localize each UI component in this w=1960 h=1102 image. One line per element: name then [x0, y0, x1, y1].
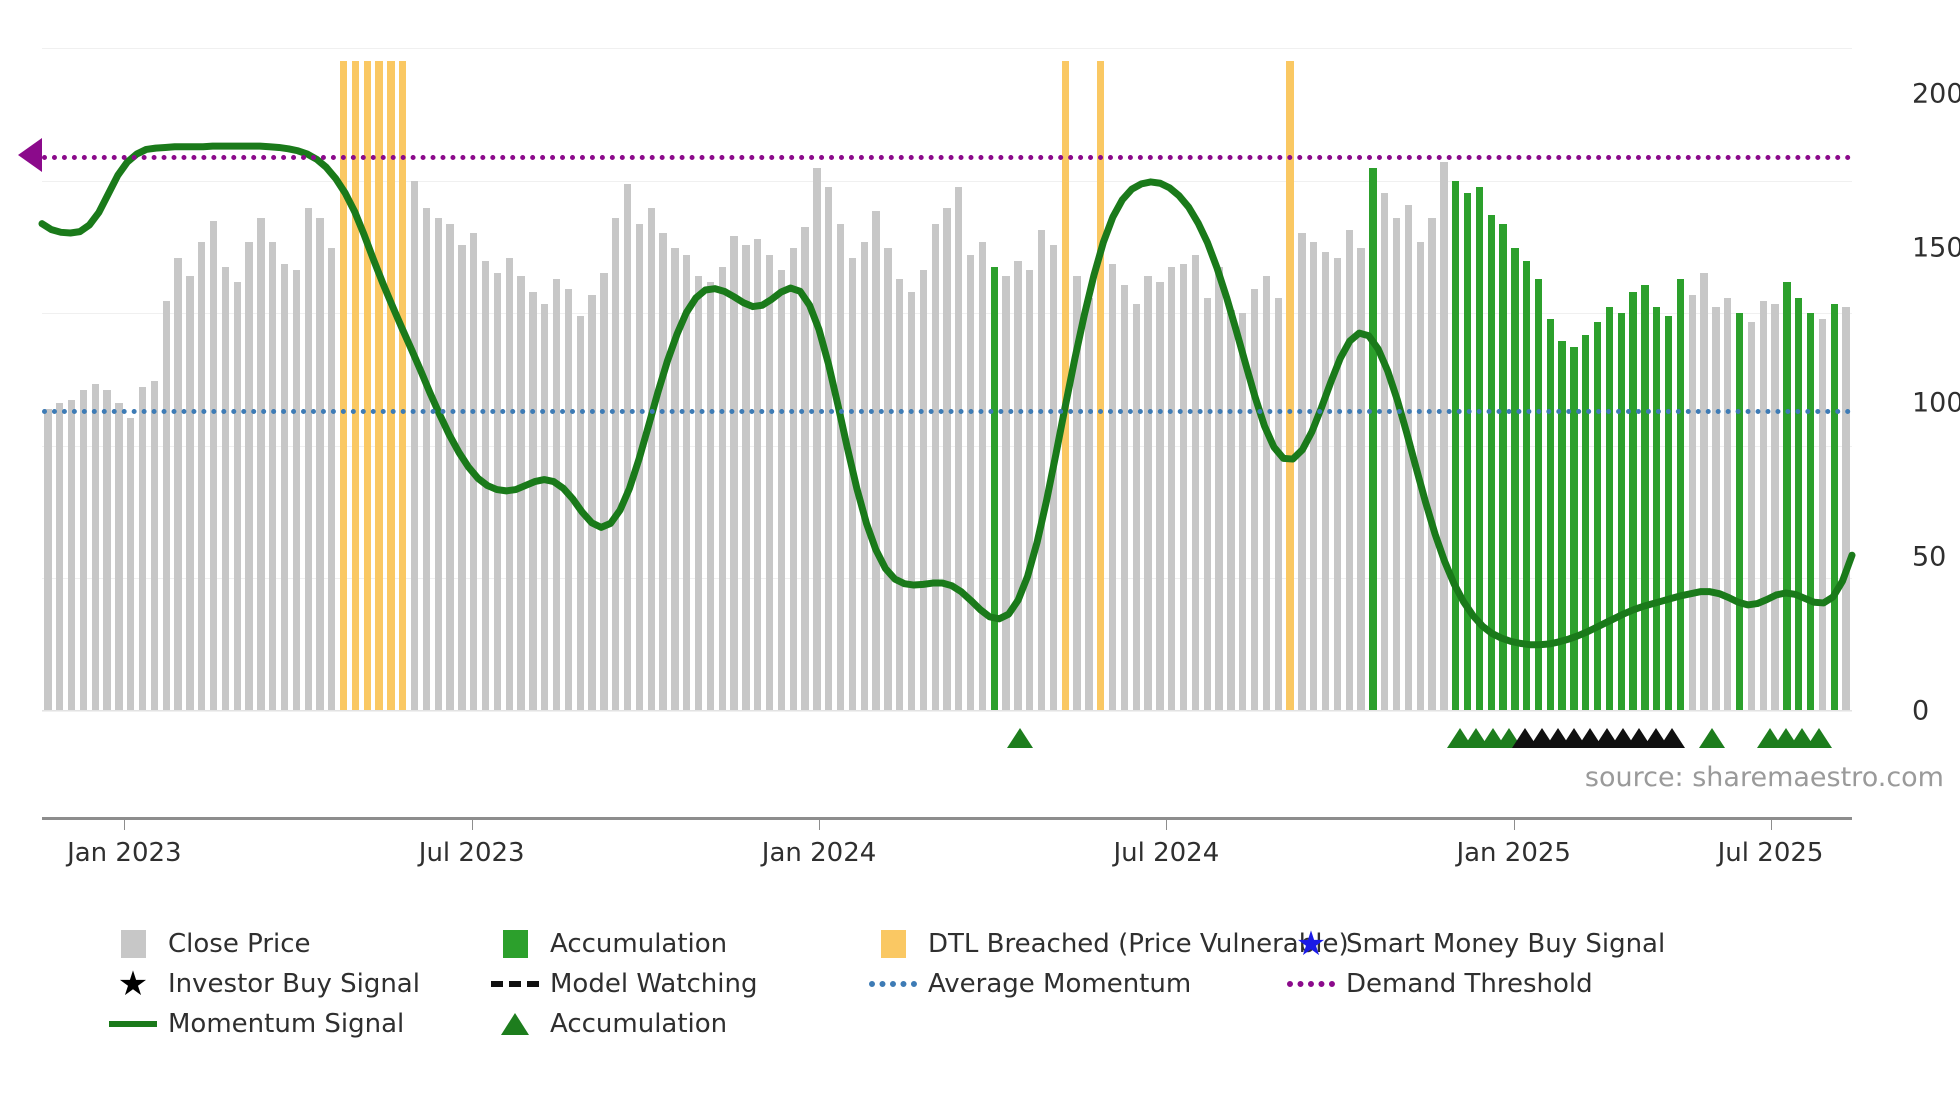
- signal-marker-strip: [42, 716, 1852, 752]
- average-momentum-line: [42, 409, 1852, 414]
- legend-triangle-icon: [501, 1013, 529, 1035]
- legend-star-icon: ★: [118, 967, 148, 1001]
- legend-label: Investor Buy Signal: [168, 969, 420, 999]
- y-axis-right-tick-label: 0: [1912, 696, 1929, 727]
- gridline: [42, 711, 1852, 712]
- legend-dotted-icon: [1287, 981, 1335, 987]
- model-watching-marker: [1659, 728, 1685, 748]
- legend-row: ★Investor Buy SignalModel WatchingAverag…: [104, 965, 1924, 1003]
- x-axis-tick-label: Jul 2023: [419, 838, 525, 868]
- x-axis-tick: [472, 817, 473, 830]
- x-axis-tick-label: Jan 2024: [762, 838, 877, 868]
- plot-area: 00.20.40.60.81 050100150200: [42, 48, 1852, 711]
- x-axis-tick-label: Jul 2025: [1718, 838, 1824, 868]
- legend-demand-threshold[interactable]: Demand Threshold: [1282, 969, 1593, 999]
- legend-momentum-signal[interactable]: Momentum Signal: [104, 1009, 404, 1039]
- accumulation-marker: [1699, 728, 1725, 748]
- legend-dtl-breached[interactable]: DTL Breached (Price Vulnerable): [864, 929, 1349, 959]
- y-axis-right-tick-label: 150: [1912, 233, 1960, 264]
- x-axis-tick: [1771, 817, 1772, 830]
- legend-accumulation-bar[interactable]: Accumulation: [486, 929, 727, 959]
- plot-inner: [42, 48, 1852, 711]
- x-axis-line: [42, 817, 1852, 820]
- legend-line-icon: [109, 1021, 157, 1027]
- x-axis-tick-label: Jul 2024: [1113, 838, 1219, 868]
- y-axis-right-tick-label: 50: [1912, 541, 1946, 572]
- legend-average-momentum[interactable]: Average Momentum: [864, 969, 1191, 999]
- legend-close-price[interactable]: Close Price: [104, 929, 311, 959]
- legend-row: Close PriceAccumulationDTL Breached (Pri…: [104, 925, 1924, 963]
- momentum-chart: 00.20.40.60.81 050100150200 Jan 2023Jul …: [0, 0, 1960, 1102]
- axis-baseline: [42, 710, 1852, 711]
- legend-label: Close Price: [168, 929, 311, 959]
- x-axis-tick-label: Jan 2025: [1456, 838, 1571, 868]
- legend-star-icon: ★: [1296, 927, 1326, 961]
- y-axis-right-tick-label: 100: [1912, 387, 1960, 418]
- legend-label: Accumulation: [550, 929, 727, 959]
- x-axis-tick-label: Jan 2023: [67, 838, 182, 868]
- legend-investor-buy[interactable]: ★Investor Buy Signal: [104, 967, 420, 1001]
- x-axis-tick: [1166, 817, 1167, 830]
- momentum-signal-curve: [42, 48, 1852, 711]
- source-attribution: source: sharemaestro.com: [1585, 762, 1944, 793]
- legend-smart-money-buy[interactable]: ★Smart Money Buy Signal: [1282, 927, 1665, 961]
- legend-label: Accumulation: [550, 1009, 727, 1039]
- legend-label: Model Watching: [550, 969, 757, 999]
- momentum-signal-path: [42, 146, 1852, 645]
- legend-model-watching[interactable]: Model Watching: [486, 969, 757, 999]
- legend-label: Momentum Signal: [168, 1009, 404, 1039]
- legend-square-icon: [881, 930, 906, 958]
- legend-accumulation-marker[interactable]: Accumulation: [486, 1009, 727, 1039]
- legend-square-icon: [503, 930, 528, 958]
- accumulation-marker: [1806, 728, 1832, 748]
- accumulation-marker: [1007, 728, 1033, 748]
- x-axis-tick: [124, 817, 125, 830]
- demand-threshold-line: [42, 155, 1852, 160]
- x-axis-tick: [819, 817, 820, 830]
- legend-row: Momentum SignalAccumulation: [104, 1005, 1924, 1043]
- legend-square-icon: [121, 930, 146, 958]
- legend-dash-icon: [491, 981, 539, 987]
- y-axis-right-tick-label: 200: [1912, 79, 1960, 110]
- legend-dotted-icon: [869, 981, 917, 987]
- chart-legend: Close PriceAccumulationDTL Breached (Pri…: [104, 925, 1924, 1045]
- demand-threshold-marker: [18, 138, 42, 172]
- legend-label: Average Momentum: [928, 969, 1191, 999]
- x-axis-tick: [1514, 817, 1515, 830]
- legend-label: Smart Money Buy Signal: [1346, 929, 1665, 959]
- legend-label: Demand Threshold: [1346, 969, 1593, 999]
